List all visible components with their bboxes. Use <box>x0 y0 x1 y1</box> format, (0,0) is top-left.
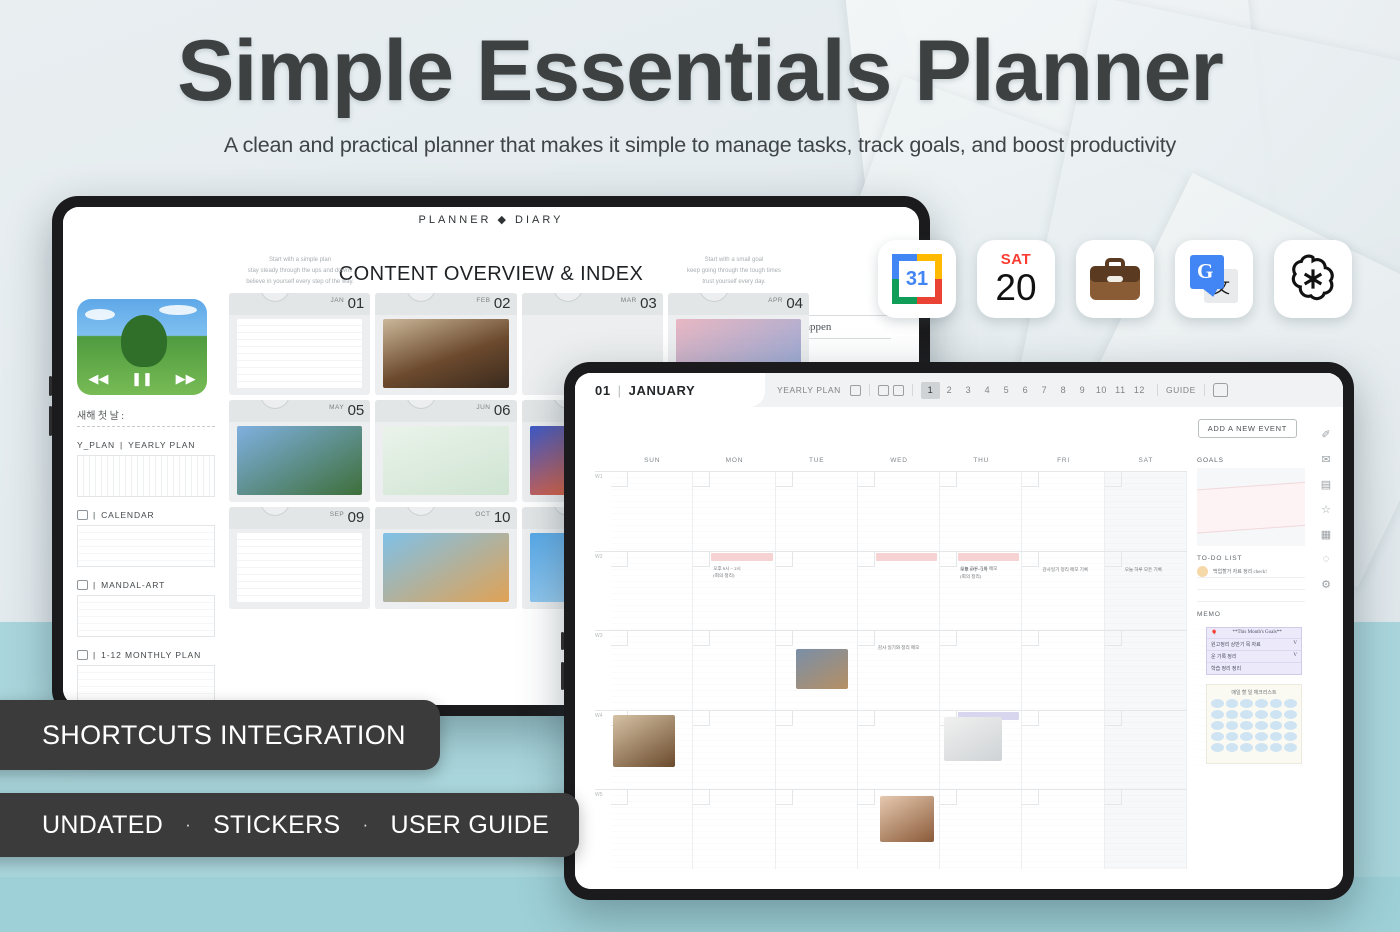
yearly-plan-code: Y_PLAN <box>77 440 115 450</box>
month-tab-12[interactable]: 12 <box>1130 382 1149 399</box>
sidebar-item-yearly-plan[interactable]: Y_PLAN | YEARLY PLAN <box>77 440 215 497</box>
weekday-tue: TUE <box>776 457 858 471</box>
day-number-box <box>858 631 875 646</box>
month-number: 05 <box>348 402 365 419</box>
calendar-note: 감사 일기와 정리 메모 <box>878 644 936 651</box>
month-number: 10 <box>494 509 511 526</box>
calendar-day-cell[interactable]: 오늘 하루 모든 기록 <box>1105 552 1187 631</box>
apple-calendar-icon[interactable]: SAT 20 <box>977 240 1055 318</box>
calendar-icon[interactable]: ▦ <box>1319 527 1333 541</box>
habit-day-dot[interactable] <box>1284 732 1297 741</box>
habit-day-dot[interactable] <box>1240 710 1253 719</box>
month-tab-strip: YEARLY PLAN 123456789101112 GUIDE <box>765 373 1343 407</box>
openai-icon[interactable] <box>1274 240 1352 318</box>
calendar-thumb <box>77 525 215 567</box>
video-player-widget[interactable]: ◀◀ ❚❚ ▶▶ <box>77 299 207 395</box>
month-tab-8[interactable]: 8 <box>1054 382 1073 399</box>
tablet-button <box>561 632 564 650</box>
calendar-day-cell[interactable] <box>858 552 940 631</box>
month-card[interactable]: SEP09 <box>229 507 370 609</box>
day-number-box <box>1105 790 1122 805</box>
calendar-day-cell[interactable] <box>776 552 858 631</box>
weekday-mon: MON <box>693 457 775 471</box>
todo-label: TO-DO LIST <box>1197 555 1305 562</box>
hero-header: Simple Essentials Planner A clean and pr… <box>0 0 1400 180</box>
calendar-day-cell[interactable] <box>940 472 1022 551</box>
habit-day-dot[interactable] <box>1240 732 1253 741</box>
star-icon[interactable]: ☆ <box>1319 502 1333 516</box>
calendar-day-cell[interactable] <box>1022 472 1104 551</box>
calendar-day-cell[interactable] <box>1022 790 1104 869</box>
habit-day-dot[interactable] <box>1270 710 1283 719</box>
current-month-display: 01 | JANUARY <box>575 373 765 407</box>
month-photo <box>237 426 362 495</box>
calendar-day-cell[interactable] <box>1105 472 1187 551</box>
habit-day-dot[interactable] <box>1226 721 1239 730</box>
tablet-button <box>49 406 52 436</box>
weekday-wed: WED <box>858 457 940 471</box>
day-number-box <box>858 552 875 567</box>
day-number-box <box>611 631 628 646</box>
google-translate-icon[interactable]: 文 G <box>1175 240 1253 318</box>
day-number-box <box>1022 631 1039 646</box>
month-tab-9[interactable]: 9 <box>1073 382 1092 399</box>
day-number-box <box>940 552 957 567</box>
feature-separator: · <box>185 815 191 835</box>
goals-box[interactable] <box>1197 468 1305 546</box>
sticker-row: 원고정리 상반기 목 자료 V <box>1207 639 1301 651</box>
calendar-day-cell[interactable] <box>776 631 858 710</box>
day-number-box <box>1105 711 1122 726</box>
calendar-day-cell[interactable] <box>858 711 940 790</box>
weekday-sat: SAT <box>1105 457 1187 471</box>
google-calendar-day: 31 <box>899 261 935 297</box>
month-abbr: OCT <box>475 511 490 518</box>
app-icons-row: 31 SAT 20 文 G <box>878 240 1352 318</box>
sidebar-item-calendar[interactable]: | CALENDAR <box>77 510 215 567</box>
habit-day-dot[interactable] <box>1240 699 1253 708</box>
sticker-icon: 🎈 <box>1211 630 1217 636</box>
month-card[interactable]: FEB02 <box>375 293 516 395</box>
todo-bullet-icon <box>1197 566 1208 577</box>
calendar-note: 오후 6시 ~ 2시 (회의 정리) <box>713 565 771 579</box>
calendar-day-cell[interactable] <box>940 631 1022 710</box>
month-separator: | <box>618 383 622 398</box>
feature-separator: · <box>363 815 369 835</box>
day-number-box <box>693 631 710 646</box>
book-icon[interactable]: ▤ <box>1319 477 1333 491</box>
month-card[interactable]: JUN06 <box>375 400 516 502</box>
week-row: W2오후 6시 ~ 2시 (회의 정리)오늘 하루 기록 메모오후 6시 ~ 2… <box>595 551 1187 631</box>
monthly-plan-thumb <box>77 665 215 705</box>
calendar-day-cell[interactable] <box>693 711 775 790</box>
page-subtitle: A clean and practical planner that makes… <box>0 133 1400 158</box>
calendar-note: 오후 6시 ~ 2시 (회의 정리) <box>960 566 1018 580</box>
calendar-photo <box>796 649 848 689</box>
video-controls[interactable]: ◀◀ ❚❚ ▶▶ <box>77 371 207 387</box>
habit-day-dot[interactable] <box>1226 699 1239 708</box>
feature-user-guide: USER GUIDE <box>390 811 549 840</box>
month-card[interactable]: JAN01 <box>229 293 370 395</box>
day-number-box <box>1022 552 1039 567</box>
habit-day-dot[interactable] <box>1211 743 1224 752</box>
monthly-calendar-page: 01 | JANUARY YEARLY PLAN 123456789101112… <box>575 373 1343 889</box>
day-number-box <box>776 552 793 567</box>
week-label: W5 <box>595 790 611 869</box>
sidebar-item-mandal-art[interactable]: | MANDAL-ART <box>77 580 215 637</box>
week-row: W4 <box>595 710 1187 790</box>
month-tab-7[interactable]: 7 <box>1035 382 1054 399</box>
weekday-header-row: SUNMONTUEWEDTHUFRISAT <box>595 457 1187 471</box>
month-abbr: APR <box>768 297 783 304</box>
event-bar[interactable] <box>876 553 937 561</box>
habit-day-dot[interactable] <box>1240 721 1253 730</box>
habit-day-dot[interactable] <box>1255 732 1268 741</box>
day-number-box <box>940 631 957 646</box>
page-icon[interactable] <box>878 385 889 396</box>
calendar-day-cell[interactable] <box>1105 711 1187 790</box>
day-number-box <box>858 711 875 726</box>
sticker-row-text: 학습 정리 정리 <box>1211 665 1241 672</box>
month-photo <box>237 533 362 602</box>
sidebar-item-monthly-plan[interactable]: | 1-12 MONTHLY PLAN <box>77 650 215 705</box>
day-number-box <box>858 790 875 805</box>
memo-sticker: 🎈 **This Month's Goals** 원고정리 상반기 목 자료 V <box>1206 627 1302 675</box>
todo-item[interactable]: 백업할거 자료 정리 check! <box>1197 566 1305 578</box>
tape-icon[interactable]: ✉ <box>1319 452 1333 466</box>
day-number-box <box>693 472 710 487</box>
home-icon[interactable] <box>1213 383 1228 397</box>
calendar-header-bar: 01 | JANUARY YEARLY PLAN 123456789101112… <box>575 373 1343 407</box>
week-rows: W1W2오후 6시 ~ 2시 (회의 정리)오늘 하루 기록 메모오후 6시 ~… <box>595 471 1187 869</box>
calendar-photo <box>880 796 934 842</box>
week-row: W3감사 일기와 정리 메모 <box>595 630 1187 710</box>
sidebar-item-label: CALENDAR <box>101 510 155 520</box>
day-number-box <box>611 790 628 805</box>
rewind-icon[interactable]: ◀◀ <box>88 371 108 387</box>
event-bar[interactable] <box>958 553 1019 561</box>
month-abbr: JUN <box>476 404 490 411</box>
day-number-box <box>611 552 628 567</box>
day-number-box <box>776 711 793 726</box>
calendar-day-cell[interactable] <box>1022 631 1104 710</box>
month-tab-6[interactable]: 6 <box>1016 382 1035 399</box>
goals-panel: GOALS <box>1197 457 1305 546</box>
calendar-grid: SUNMONTUEWEDTHUFRISAT W1W2오후 6시 ~ 2시 (회의… <box>595 457 1187 869</box>
tagline-right: Start with a small goal keep going throu… <box>649 255 819 288</box>
habit-day-dot[interactable] <box>1270 699 1283 708</box>
apple-calendar-weekday: SAT <box>995 252 1036 267</box>
weekday-thu: THU <box>940 457 1022 471</box>
month-tab-11[interactable]: 11 <box>1111 382 1130 399</box>
habit-day-dot[interactable] <box>1226 710 1239 719</box>
month-number: 01 <box>595 383 611 398</box>
calendar-note: 감사일기 정리 메모 기록 <box>1042 566 1100 573</box>
calendar-day-cell[interactable] <box>611 472 693 551</box>
todo-item[interactable] <box>1197 578 1305 590</box>
month-tab-5[interactable]: 5 <box>997 382 1016 399</box>
calendar-day-cell[interactable] <box>611 552 693 631</box>
memo-panel: MEMO 🎈 **This Month's Goals** 원고정리 상반기 목… <box>1197 611 1305 770</box>
sidebar-item-label: MANDAL-ART <box>101 580 165 590</box>
feature-stickers: STICKERS <box>213 811 340 840</box>
day-number-box <box>776 472 793 487</box>
calendar-day-cell[interactable] <box>940 790 1022 869</box>
sidebar-item-label: 1-12 MONTHLY PLAN <box>101 650 201 660</box>
todo-panel: TO-DO LIST 백업할거 자료 정리 check! <box>1197 555 1305 602</box>
habit-day-dot[interactable] <box>1255 699 1268 708</box>
habit-day-dot[interactable] <box>1211 721 1224 730</box>
event-bar[interactable] <box>711 553 772 561</box>
habit-day-dot[interactable] <box>1211 699 1224 708</box>
calendar-day-cell[interactable] <box>693 790 775 869</box>
calendar-day-cell[interactable] <box>693 472 775 551</box>
month-name: JANUARY <box>629 383 696 398</box>
habit-day-dot[interactable] <box>1226 732 1239 741</box>
week-label: W2 <box>595 552 611 631</box>
day-number-box <box>693 552 710 567</box>
month-abbr: SEP <box>330 511 345 518</box>
habit-day-dot[interactable] <box>1255 710 1268 719</box>
habit-day-dot[interactable] <box>1284 743 1297 752</box>
habit-day-dot[interactable] <box>1211 732 1224 741</box>
calendar-icon[interactable] <box>850 385 861 396</box>
habit-day-dot[interactable] <box>1211 710 1224 719</box>
columns-icon[interactable] <box>893 385 904 396</box>
sticker-title: **This Month's Goals** <box>1232 630 1281 636</box>
pin-icon[interactable]: ✐ <box>1319 427 1333 441</box>
gear-icon[interactable]: ⚙ <box>1319 577 1333 591</box>
tool-icon-rail: ✐✉▤☆▦◌⚙ <box>1315 427 1337 591</box>
week-label: W4 <box>595 711 611 790</box>
week-row: W1 <box>595 471 1187 551</box>
mandal-art-thumb <box>77 595 215 637</box>
yearly-plan-thumb <box>77 455 215 497</box>
weekday-fri: FRI <box>1022 457 1104 471</box>
calendar-day-cell[interactable]: 감사일기 정리 메모 기록 <box>1022 552 1104 631</box>
month-tab-2[interactable]: 2 <box>940 382 959 399</box>
month-tab-1[interactable]: 1 <box>921 382 940 399</box>
day-number-box <box>940 790 957 805</box>
sidebar-item-label: YEARLY PLAN <box>128 440 195 450</box>
day-number-box <box>611 472 628 487</box>
day-number-box <box>1105 472 1122 487</box>
calendar-day-cell[interactable] <box>858 472 940 551</box>
calendar-day-cell[interactable]: 오늘 하루 기록 메모오후 6시 ~ 2시 (회의 정리) <box>940 552 1022 631</box>
habit-day-dot[interactable] <box>1270 743 1283 752</box>
calendar-day-cell[interactable] <box>611 711 693 790</box>
calendar-day-cell[interactable] <box>858 790 940 869</box>
calendar-day-cell[interactable] <box>611 790 693 869</box>
habit-day-dot[interactable] <box>1255 721 1268 730</box>
forward-icon[interactable]: ▶▶ <box>176 371 196 387</box>
tablet-button <box>561 662 564 690</box>
todo-text: 백업할거 자료 정리 check! <box>1213 568 1267 575</box>
calendar-day-cell[interactable]: 오후 6시 ~ 2시 (회의 정리) <box>693 552 775 631</box>
day-number-box <box>1022 711 1039 726</box>
day-number-box <box>693 711 710 726</box>
month-number: 06 <box>494 402 511 419</box>
sticker-row-check: V <box>1293 641 1297 648</box>
calendar-day-cell[interactable] <box>1022 711 1104 790</box>
planner-diary-arc-title: PLANNER ◆ DIARY <box>63 213 919 226</box>
habit-day-dot[interactable] <box>1284 699 1297 708</box>
tree-image <box>121 315 167 367</box>
front-tablet-screen: 01 | JANUARY YEARLY PLAN 123456789101112… <box>575 373 1343 889</box>
calendar-day-cell[interactable] <box>776 790 858 869</box>
calendar-day-cell[interactable] <box>1105 631 1187 710</box>
habit-day-dot[interactable] <box>1284 721 1297 730</box>
day-number-box <box>1105 552 1122 567</box>
habit-day-dot[interactable] <box>1255 743 1268 752</box>
day-number-box <box>1022 790 1039 805</box>
pause-icon[interactable]: ❚❚ <box>131 371 153 387</box>
calendar-day-cell[interactable] <box>776 472 858 551</box>
day-number-box <box>776 790 793 805</box>
briefcase-icon[interactable] <box>1076 240 1154 318</box>
sticker-title-row: 🎈 **This Month's Goals** <box>1207 628 1301 639</box>
month-photo <box>237 319 362 388</box>
habit-tracker-grid <box>1211 699 1297 752</box>
calendar-day-cell[interactable] <box>693 631 775 710</box>
apple-calendar-day: 20 <box>995 269 1036 306</box>
month-tab-3[interactable]: 3 <box>959 382 978 399</box>
google-calendar-icon[interactable]: 31 <box>878 240 956 318</box>
month-number: 03 <box>640 295 657 312</box>
page-title: Simple Essentials Planner <box>0 22 1400 121</box>
month-card[interactable]: OCT10 <box>375 507 516 609</box>
calendar-body: SUNMONTUEWEDTHUFRISAT W1W2오후 6시 ~ 2시 (회의… <box>595 457 1305 869</box>
day-number-box <box>858 472 875 487</box>
shortcuts-integration-banner: SHORTCUTS INTEGRATION <box>0 700 440 770</box>
habit-day-dot[interactable] <box>1270 732 1283 741</box>
day-number-box <box>940 472 957 487</box>
square-icon <box>77 580 88 590</box>
habit-day-dot[interactable] <box>1226 743 1239 752</box>
shortcuts-banner-label: SHORTCUTS INTEGRATION <box>42 720 406 751</box>
month-number: 02 <box>494 295 511 312</box>
month-number-tabs: 123456789101112 <box>921 382 1149 399</box>
calendar-side-panels: GOALS TO-DO LIST 백업할거 자료 정리 check! <box>1187 457 1305 869</box>
calendar-note: 오늘 하루 모든 기록 <box>1125 566 1183 573</box>
month-tab-10[interactable]: 10 <box>1092 382 1111 399</box>
memo-label: MEMO <box>1197 611 1305 618</box>
columns-icon <box>77 650 88 660</box>
front-tablet-device: 01 | JANUARY YEARLY PLAN 123456789101112… <box>564 362 1354 900</box>
calendar-day-cell[interactable] <box>611 631 693 710</box>
month-photo <box>383 319 508 388</box>
habit-tracker-sticker: 매일 할 일 체크리스트 <box>1206 684 1302 764</box>
week-row: W5 <box>595 789 1187 869</box>
month-number: 09 <box>348 509 365 526</box>
day-number-box <box>1105 631 1122 646</box>
calendar-photo <box>944 717 1002 761</box>
memo-box[interactable]: 🎈 **This Month's Goals** 원고정리 상반기 목 자료 V <box>1197 622 1305 770</box>
month-number: 01 <box>348 295 365 312</box>
month-tab-4[interactable]: 4 <box>978 382 997 399</box>
habit-day-dot[interactable] <box>1240 743 1253 752</box>
month-photo <box>383 426 508 495</box>
month-card[interactable]: MAY05 <box>229 400 370 502</box>
month-photo <box>383 533 508 602</box>
habit-tracker-title: 매일 할 일 체크리스트 <box>1211 689 1297 696</box>
feature-undated: UNDATED <box>42 811 163 840</box>
yearly-plan-tab[interactable]: YEARLY PLAN <box>777 385 841 395</box>
month-abbr: MAR <box>621 297 637 304</box>
weekday-sun: SUN <box>611 457 693 471</box>
handwriting-line: 새해 첫 날 : <box>77 407 215 427</box>
month-abbr: JAN <box>330 297 344 304</box>
todo-item[interactable] <box>1197 590 1305 602</box>
sticker-row-check: V <box>1293 653 1297 660</box>
sticker-row: 학습 정리 정리 <box>1207 663 1301 674</box>
week-label: W3 <box>595 631 611 710</box>
day-number-box <box>693 790 710 805</box>
calendar-day-cell[interactable] <box>1105 790 1187 869</box>
sticker-row: 운 기록 정리 V <box>1207 651 1301 663</box>
translate-letter: G <box>1197 259 1213 284</box>
month-abbr: FEB <box>476 297 490 304</box>
goals-label: GOALS <box>1197 457 1305 464</box>
month-abbr: MAY <box>329 404 344 411</box>
tagline-left: Start with a simple plan stay steady thr… <box>215 255 385 288</box>
add-new-event-button[interactable]: ADD A NEW EVENT <box>1198 419 1297 438</box>
tablet-button <box>49 376 52 396</box>
sticker-row-text: 원고정리 상반기 목 자료 <box>1211 641 1261 648</box>
calendar-day-cell[interactable] <box>940 711 1022 790</box>
calendar-photo <box>613 715 675 767</box>
month-number: 04 <box>786 295 803 312</box>
features-banner: UNDATED · STICKERS · USER GUIDE <box>0 793 579 857</box>
week-label: W1 <box>595 472 611 551</box>
habit-day-dot[interactable] <box>1270 721 1283 730</box>
calendar-icon <box>77 510 88 520</box>
calendar-day-cell[interactable]: 감사 일기와 정리 메모 <box>858 631 940 710</box>
index-sidebar: ◀◀ ❚❚ ▶▶ 새해 첫 날 : Y_PLAN | YEARLY PLAN <box>77 299 215 705</box>
habit-day-dot[interactable] <box>1284 710 1297 719</box>
calendar-day-cell[interactable] <box>776 711 858 790</box>
sticker-row-text: 운 기록 정리 <box>1211 653 1237 660</box>
globe-icon[interactable]: ◌ <box>1319 552 1333 566</box>
day-number-box <box>776 631 793 646</box>
guide-tab[interactable]: GUIDE <box>1166 385 1196 395</box>
day-number-box <box>1022 472 1039 487</box>
